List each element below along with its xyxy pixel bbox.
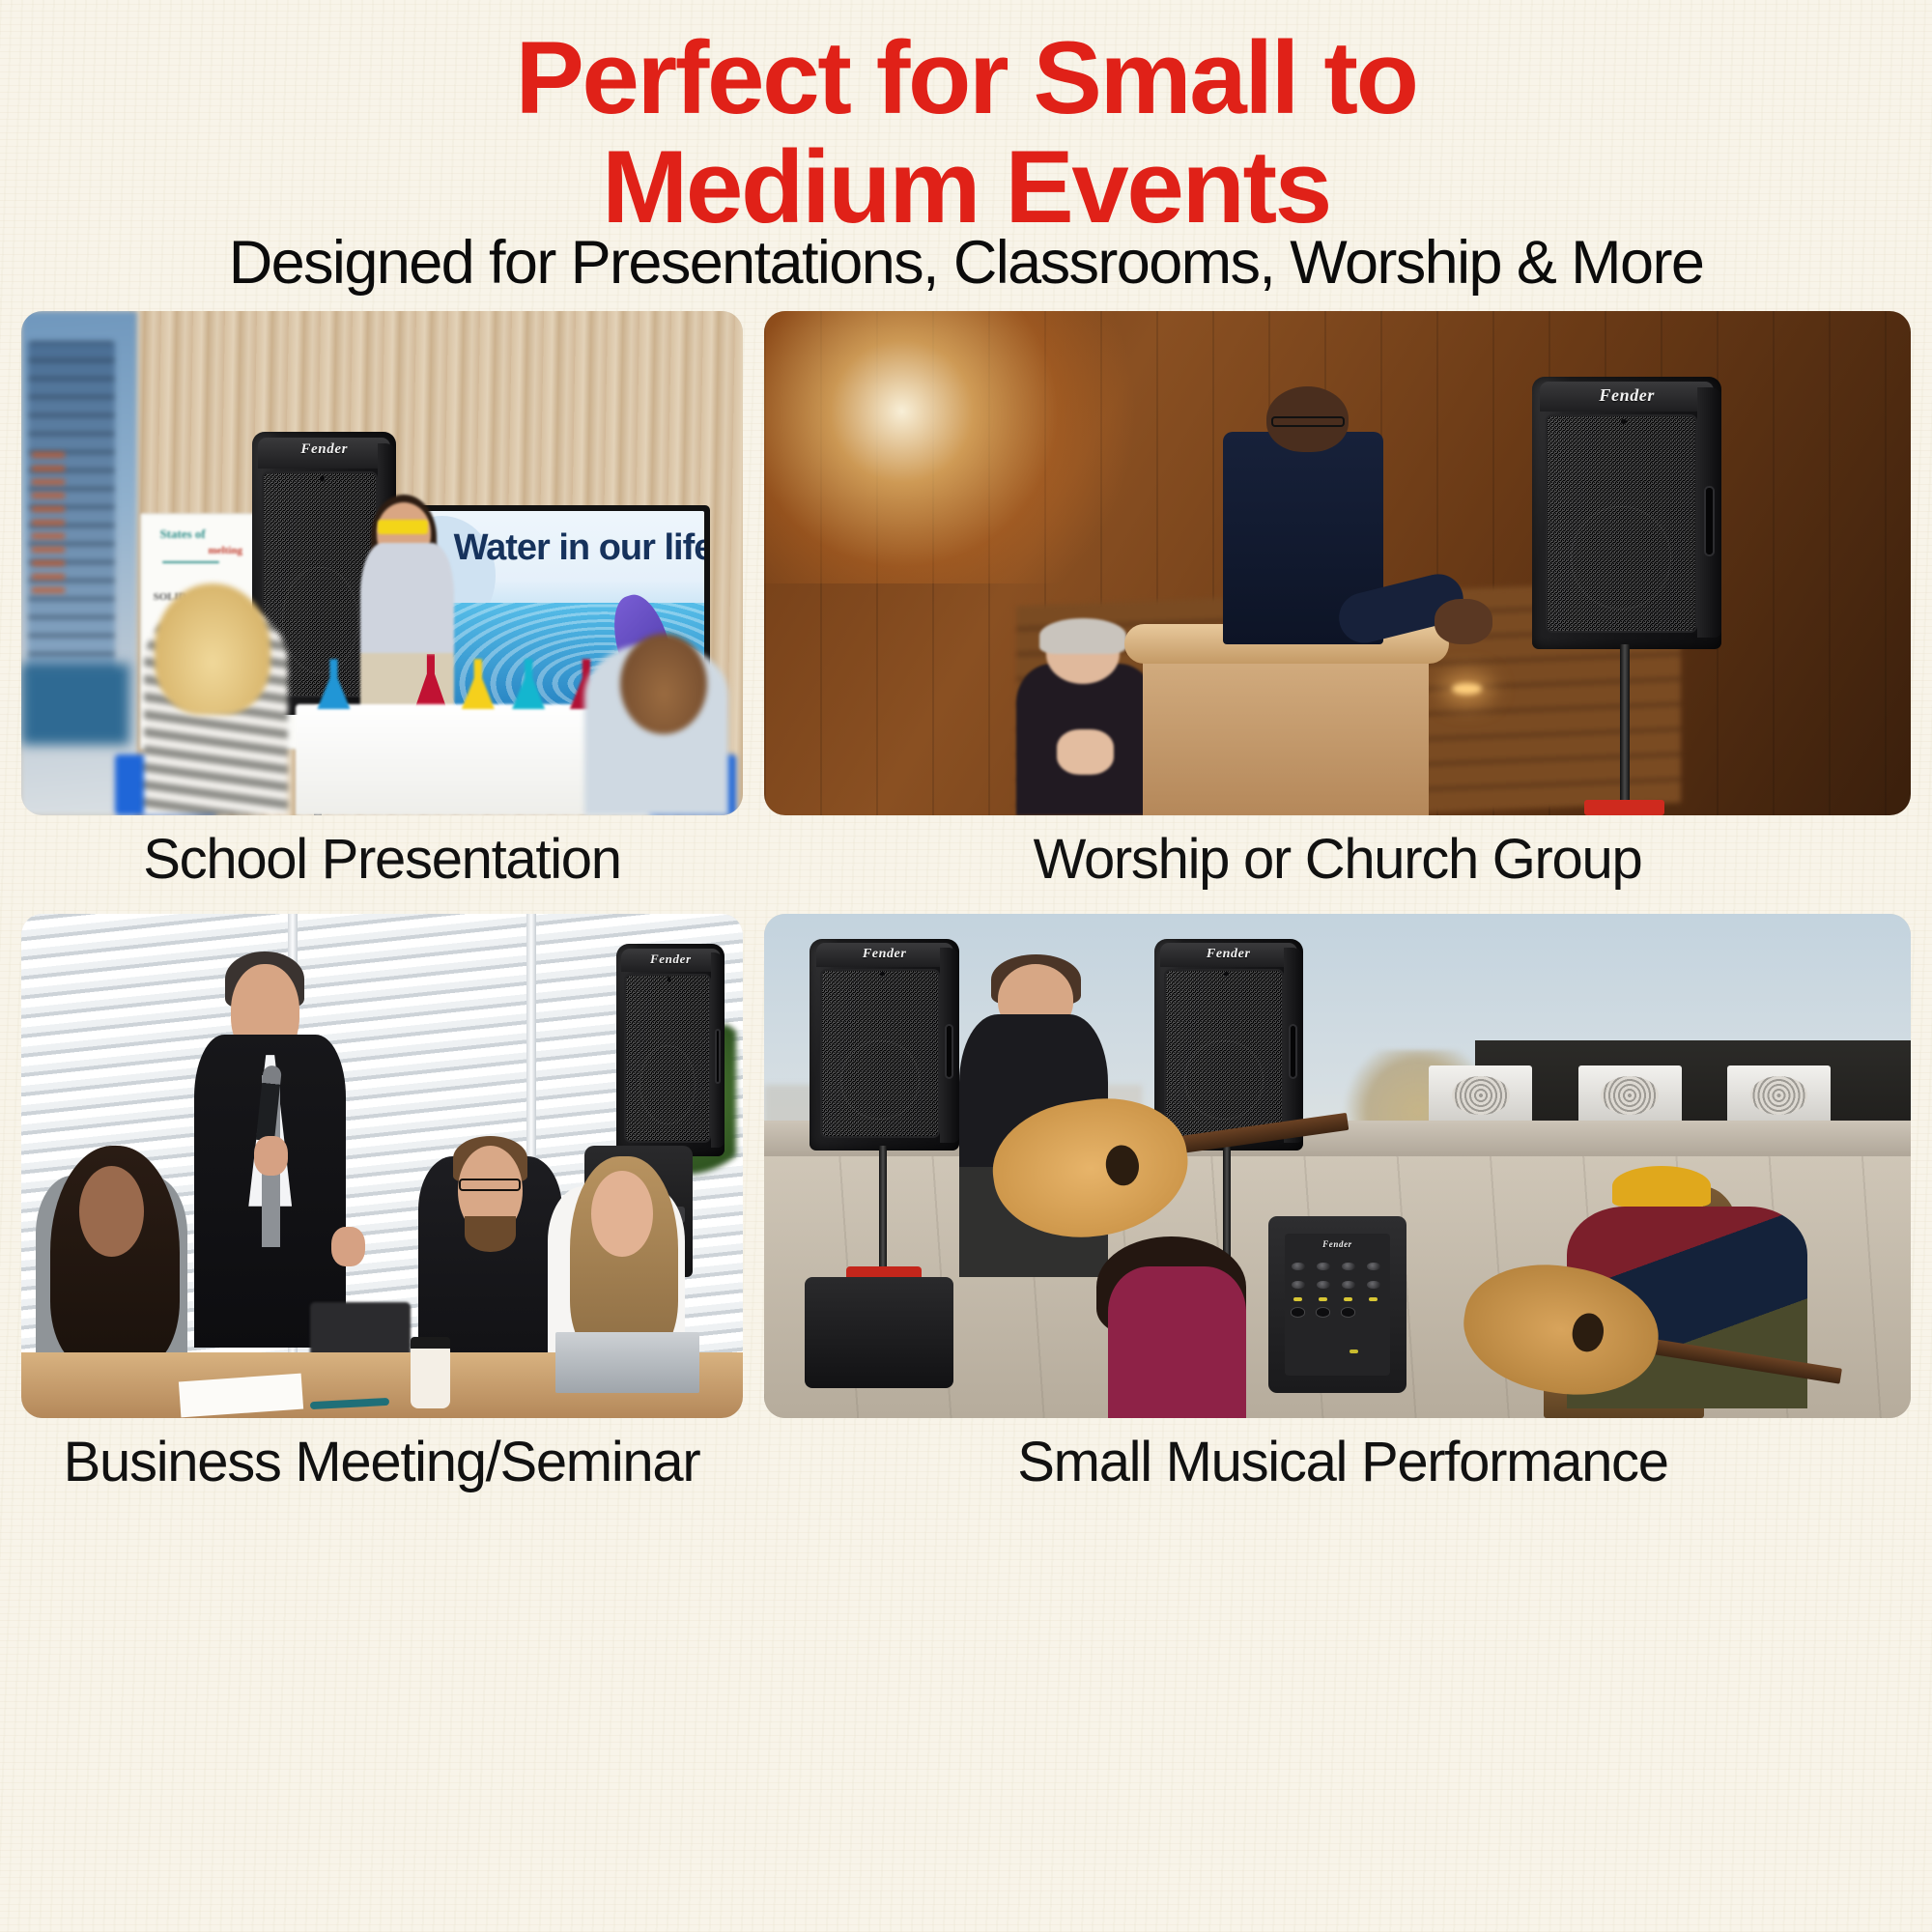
attendee-woman-head (591, 1171, 652, 1257)
fender-speaker-business: Fender (616, 944, 724, 1155)
mixer-channel-label (1319, 1297, 1327, 1301)
ac-unit-2 (1578, 1065, 1682, 1126)
fender-logo: Fender (252, 441, 396, 458)
mixer-knob[interactable] (1342, 1263, 1355, 1271)
headline-line-1: Perfect for Small to (0, 23, 1932, 132)
speaker-stand-base-red (1584, 800, 1664, 815)
woofer-outline (1184, 1040, 1263, 1120)
worship-scene: Fender (764, 311, 1911, 815)
speaker-carry-handle (1289, 1024, 1297, 1079)
mixer-input-jack[interactable] (1316, 1307, 1330, 1317)
mixer-input-jack[interactable] (1291, 1307, 1305, 1317)
caption-worship: Worship or Church Group (764, 827, 1911, 892)
mixer-knob[interactable] (1317, 1281, 1330, 1290)
lens-flare (764, 311, 1177, 583)
caption-school-presentation: School Presentation (21, 827, 743, 892)
infographic-page: Perfect for Small to Medium Events Desig… (0, 0, 1932, 1932)
speaker-grille (820, 969, 939, 1138)
presenter-hand-mic (254, 1136, 287, 1177)
ac-unit-1 (1429, 1065, 1532, 1126)
tweeter-port (668, 977, 670, 980)
caption-business-meeting: Business Meeting/Seminar (10, 1430, 753, 1494)
photo-panel-musical-performance: Fender Fender (764, 914, 1911, 1418)
mixer-channel-label (1369, 1297, 1378, 1301)
headline-line-2: Medium Events (0, 132, 1932, 241)
mixer-knob[interactable] (1367, 1263, 1380, 1271)
speaker-carry-handle (945, 1024, 953, 1079)
presenter-hand-gesture (331, 1227, 364, 1267)
fender-speaker-right: Fender (1154, 939, 1303, 1151)
mixer-channel-label (1293, 1297, 1302, 1301)
mixer-knob[interactable] (1292, 1263, 1305, 1271)
mixer-knob[interactable] (1367, 1281, 1380, 1290)
presenter-glasses (1271, 416, 1345, 427)
attendee-man-glasses (459, 1179, 521, 1192)
page-subheadline: Designed for Presentations, Classrooms, … (0, 228, 1932, 298)
presenter-gesturing-hand (1435, 599, 1492, 644)
safety-goggles (378, 520, 428, 534)
speaker-carry-bag (805, 1277, 953, 1388)
woofer-outline (282, 567, 358, 673)
fender-mixer: Fender (1268, 1216, 1406, 1393)
stage-light-3 (1452, 683, 1482, 694)
flask-blue (317, 659, 350, 709)
slide-title: Water in our life (454, 527, 705, 569)
window-orange-facade (32, 452, 65, 593)
caption-musical-performance: Small Musical Performance (773, 1430, 1913, 1494)
student-blonde-hair (155, 583, 270, 715)
fender-logo: Fender (1154, 947, 1303, 962)
woofer-outline (1571, 506, 1671, 609)
mixer-knob[interactable] (1292, 1281, 1305, 1290)
child-seated (1108, 1266, 1245, 1418)
speaker-grille (1164, 969, 1283, 1138)
mixer-power-led (1350, 1350, 1358, 1353)
fender-logo: Fender (1532, 385, 1721, 406)
woofer-outline (639, 1045, 696, 1124)
fender-speaker-left: Fender (810, 939, 958, 1151)
mixer-channel-label (1344, 1297, 1352, 1301)
yellow-beanie (1612, 1166, 1711, 1207)
speaker-grille (624, 974, 711, 1143)
blue-chalkboard (21, 664, 129, 745)
rooftop-scene: Fender Fender (764, 914, 1911, 1418)
fender-speaker-worship: Fender (1532, 377, 1721, 649)
speaker-stand-pole (1620, 644, 1631, 815)
tweeter-port (320, 476, 324, 482)
laptop (555, 1332, 699, 1393)
fender-logo: Fender (1285, 1239, 1389, 1249)
speaker-stand-pole-left (879, 1146, 887, 1277)
attendee-clapping-hands (1057, 729, 1114, 775)
mixer-control-panel: Fender (1285, 1234, 1389, 1375)
speaker-grille (1546, 414, 1697, 633)
attendee-woman2-head (79, 1166, 144, 1257)
classroom-scene: States of melting SOLID freezing Water c… (21, 311, 743, 815)
ac-unit-3 (1727, 1065, 1831, 1126)
photo-panel-school-presentation: States of melting SOLID freezing Water c… (21, 311, 743, 815)
photo-panel-worship: Fender (764, 311, 1911, 815)
page-headline: Perfect for Small to Medium Events (0, 23, 1932, 242)
woofer-outline (840, 1040, 919, 1120)
student-brown-hair (620, 634, 707, 734)
flask-yellow (462, 659, 495, 709)
flask-cyan (512, 659, 545, 709)
attendee-man-beard (465, 1216, 515, 1252)
coffee-cup (411, 1337, 450, 1407)
mixer-knob[interactable] (1317, 1263, 1330, 1271)
speaker-carry-handle (715, 1029, 722, 1084)
speaker-carry-handle (1704, 486, 1716, 556)
photo-panel-business-meeting: Fender (21, 914, 743, 1418)
fender-logo: Fender (810, 947, 958, 962)
mixer-input-jack[interactable] (1341, 1307, 1355, 1317)
mixer-knob[interactable] (1342, 1281, 1355, 1290)
business-scene: Fender (21, 914, 743, 1418)
attendee-grey-hair (1039, 618, 1126, 654)
fender-logo: Fender (616, 952, 724, 967)
